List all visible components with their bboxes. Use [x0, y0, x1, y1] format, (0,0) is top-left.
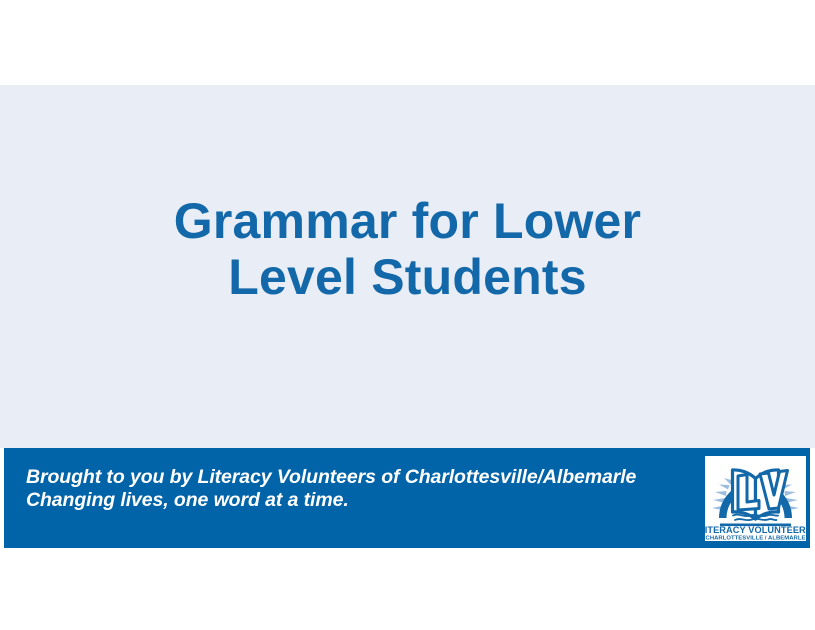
footer-tagline: Brought to you by Literacy Volunteers of…	[26, 466, 696, 512]
literacy-volunteers-logo: LITERACY VOLUNTEERS CHARLOTTESVILLE / AL…	[705, 456, 806, 541]
logo-locale: CHARLOTTESVILLE / ALBEMARLE	[706, 535, 806, 541]
page-title-line-1: Grammar for Lower	[174, 193, 641, 249]
footer-bar: Brought to you by Literacy Volunteers of…	[4, 448, 810, 548]
content-panel: Grammar for Lower Level Students	[0, 85, 815, 448]
logo-artwork: LITERACY VOLUNTEERS CHARLOTTESVILLE / AL…	[705, 456, 806, 541]
footer-tagline-line-2: Changing lives, one word at a time.	[26, 489, 696, 512]
slide-canvas: Grammar for Lower Level Students Brought…	[0, 0, 815, 630]
page-title-line-2: Level Students	[228, 249, 586, 305]
title-block: Grammar for Lower Level Students	[0, 85, 815, 448]
logo-name: LITERACY VOLUNTEERS	[705, 525, 806, 535]
footer-tagline-line-1: Brought to you by Literacy Volunteers of…	[26, 466, 696, 489]
